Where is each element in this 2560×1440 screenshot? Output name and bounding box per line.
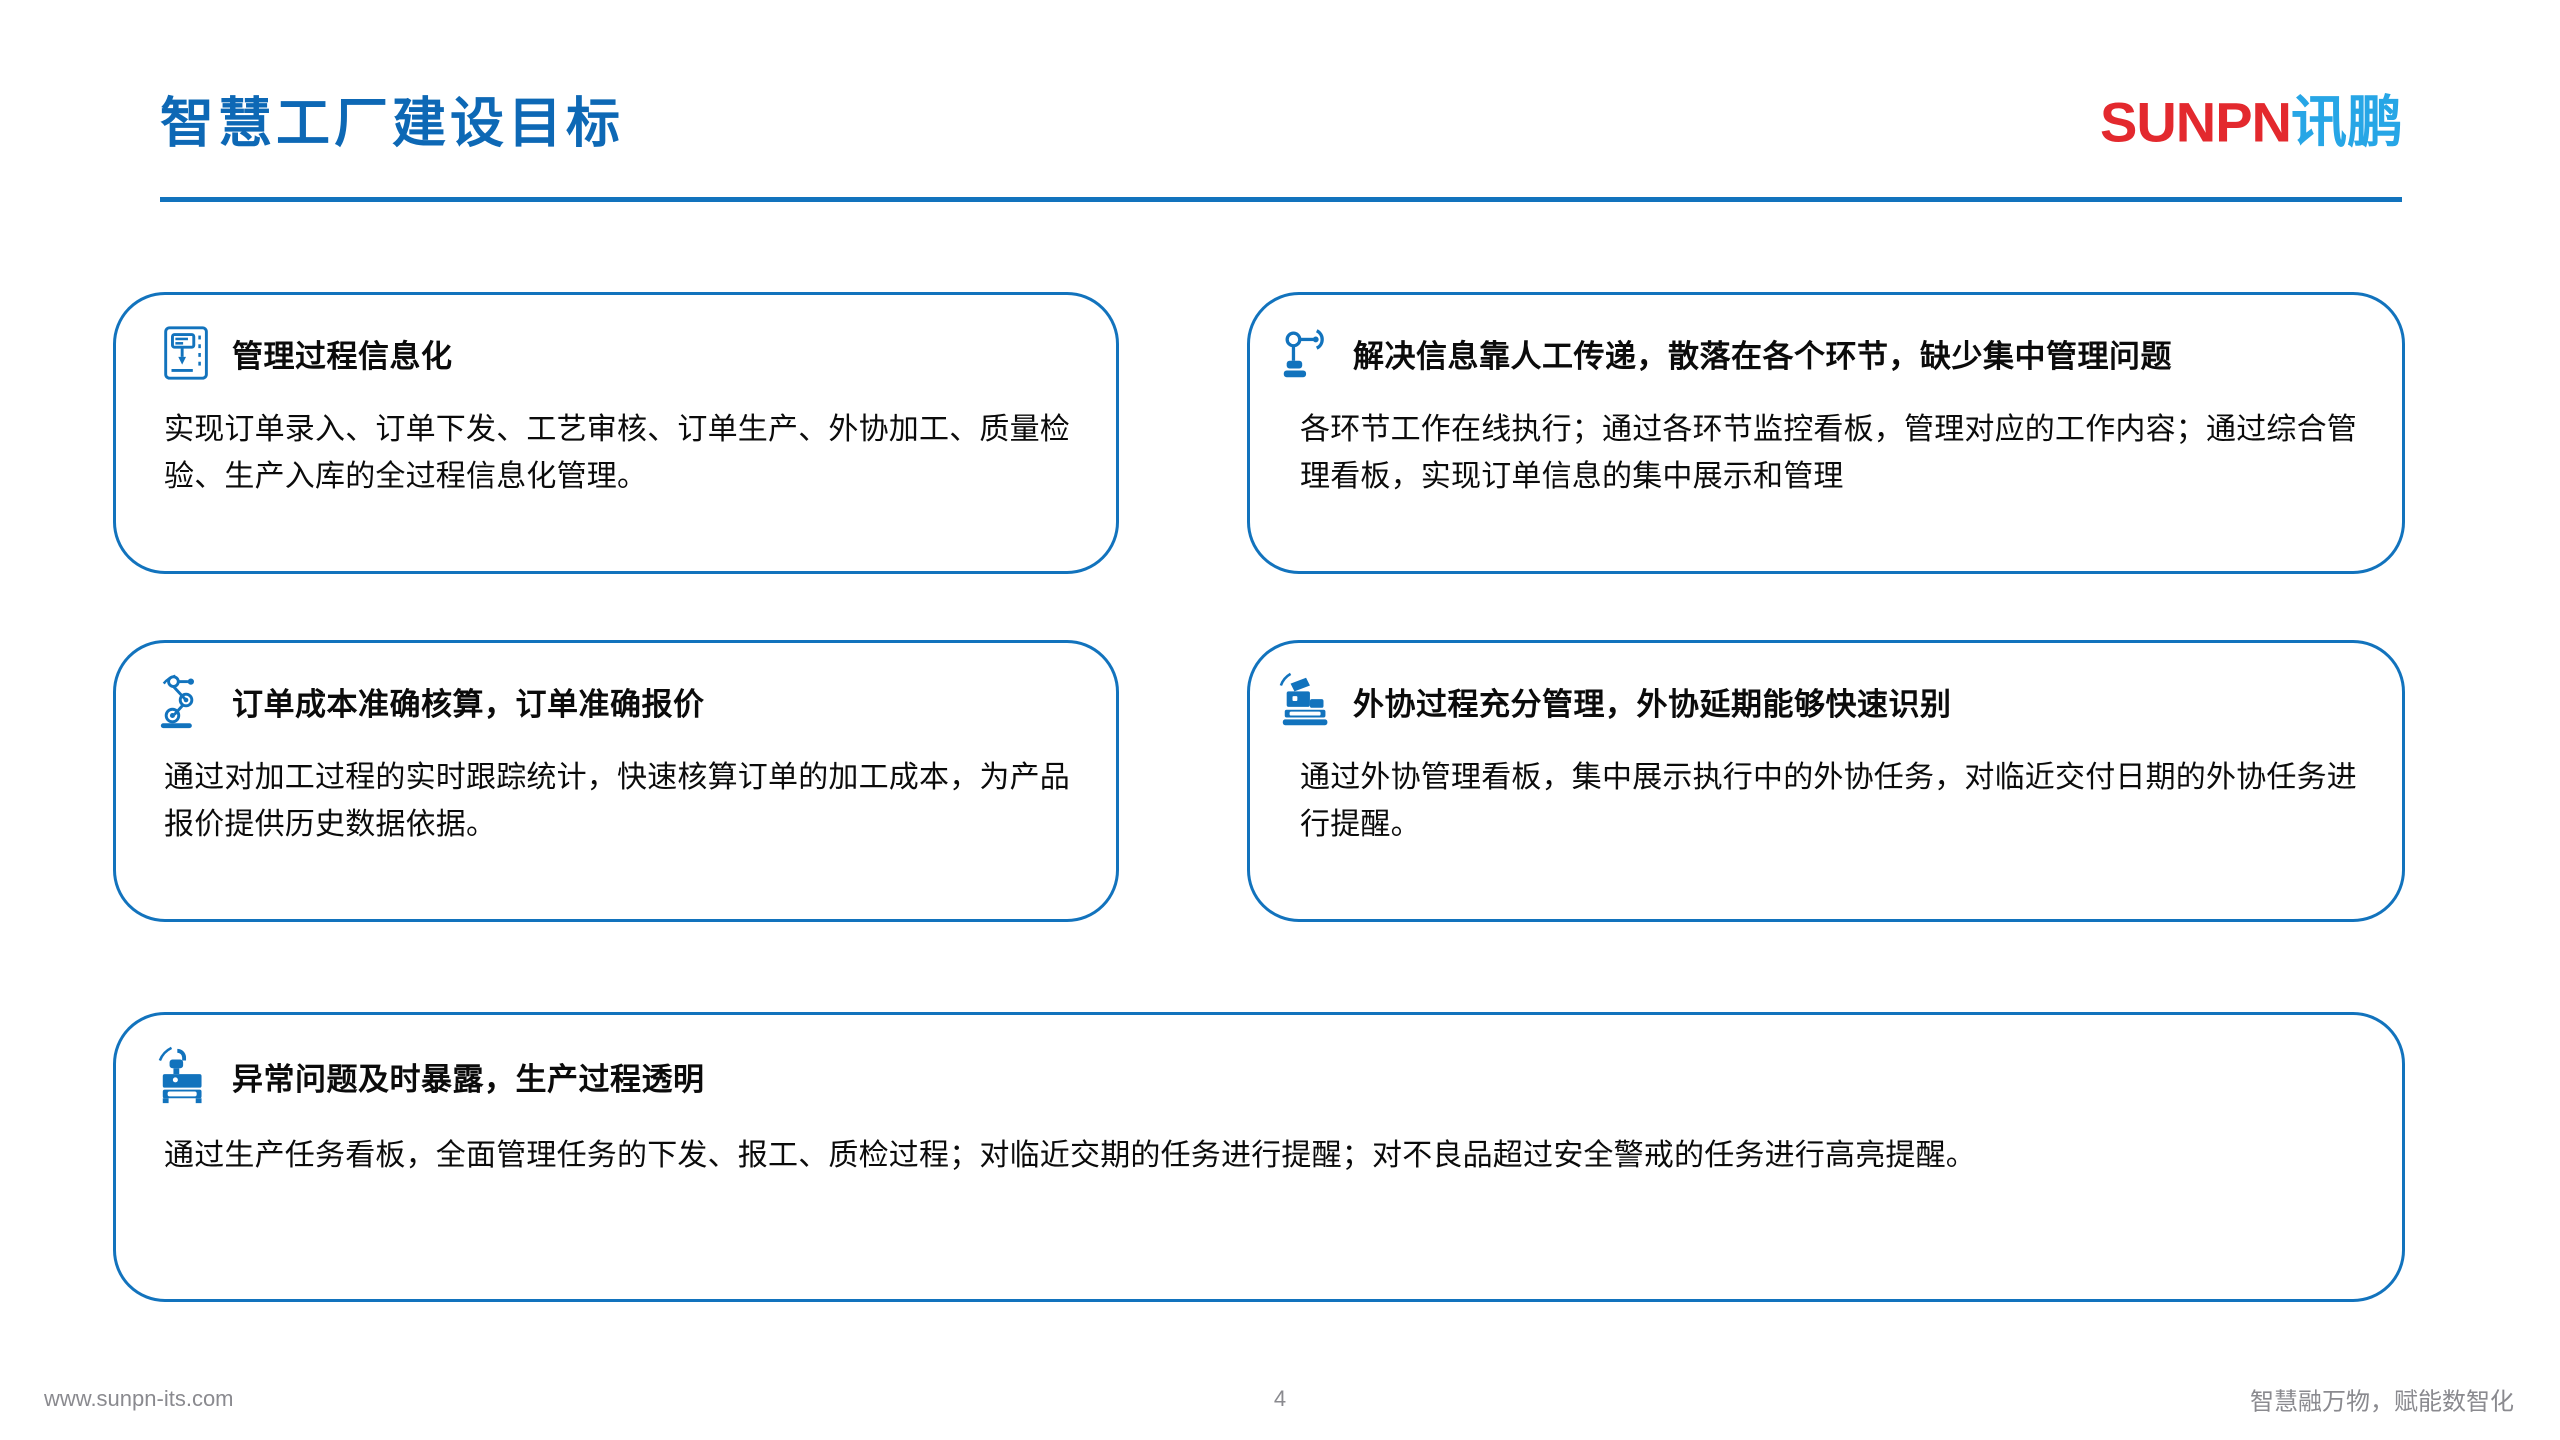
card-header: 外协过程充分管理，外协延期能够快速识别 xyxy=(1277,670,1952,732)
goal-card-management-informatization[interactable]: 管理过程信息化 实现订单录入、订单下发、工艺审核、订单生产、外协加工、质量检验、… xyxy=(113,292,1119,574)
card-body-text: 各环节工作在线执行；通过各环节监控看板，管理对应的工作内容；通过综合管理看板，实… xyxy=(1300,407,2380,500)
card-title: 订单成本准确核算，订单准确报价 xyxy=(232,679,705,724)
card-header: 订单成本准确核算，订单准确报价 xyxy=(156,670,705,732)
card-header: 管理过程信息化 xyxy=(156,322,453,384)
footer-slogan: 智慧融万物，赋能数智化 xyxy=(2250,1382,2514,1417)
card-title: 解决信息靠人工传递，散落在各个环节，缺少集中管理问题 xyxy=(1353,331,2172,376)
card-body-text: 通过对加工过程的实时跟踪统计，快速核算订单的加工成本，为产品报价提供历史数据依据… xyxy=(164,755,1094,848)
footer-website-url[interactable]: www.sunpn-its.com xyxy=(44,1386,234,1412)
card-header: 异常问题及时暴露，生产过程透明 xyxy=(156,1045,705,1107)
card-title: 异常问题及时暴露，生产过程透明 xyxy=(232,1054,705,1099)
logo-chinese-text: 讯鹏 xyxy=(2291,78,2403,159)
card-body-text: 通过外协管理看板，集中展示执行中的外协任务，对临近交付日期的外协任务进行提醒。 xyxy=(1300,755,2380,848)
card-body-text: 实现订单录入、订单下发、工艺审核、订单生产、外协加工、质量检验、生产入库的全过程… xyxy=(164,407,1084,500)
logo-latin-text: SUNPN xyxy=(2100,90,2291,155)
cnc-machine-icon xyxy=(156,322,218,384)
industrial-machine-icon xyxy=(1277,670,1339,732)
footer-page-number: 4 xyxy=(1274,1386,1286,1412)
card-title: 外协过程充分管理，外协延期能够快速识别 xyxy=(1353,679,1952,724)
card-body-text: 通过生产任务看板，全面管理任务的下发、报工、质检过程；对临近交期的任务进行提醒；… xyxy=(164,1133,2364,1180)
goal-card-cost-accounting[interactable]: 订单成本准确核算，订单准确报价 通过对加工过程的实时跟踪统计，快速核算订单的加工… xyxy=(113,640,1119,922)
goal-card-exception-transparency[interactable]: 异常问题及时暴露，生产过程透明 通过生产任务看板，全面管理任务的下发、报工、质检… xyxy=(113,1012,2405,1302)
brand-logo: SUNPN 讯鹏 xyxy=(2100,78,2403,159)
press-machine-icon xyxy=(156,1045,218,1107)
robot-arm-icon xyxy=(1277,322,1339,384)
card-title: 管理过程信息化 xyxy=(232,331,453,376)
goal-card-outsourcing-management[interactable]: 外协过程充分管理，外协延期能够快速识别 通过外协管理看板，集中展示执行中的外协任… xyxy=(1247,640,2405,922)
goal-card-centralized-management[interactable]: 解决信息靠人工传递，散落在各个环节，缺少集中管理问题 各环节工作在线执行；通过各… xyxy=(1247,292,2405,574)
card-header: 解决信息靠人工传递，散落在各个环节，缺少集中管理问题 xyxy=(1277,322,2172,384)
articulated-robot-icon xyxy=(156,670,218,732)
page-title: 智慧工厂建设目标 xyxy=(160,79,624,158)
slide-header: 智慧工厂建设目标 SUNPN 讯鹏 xyxy=(0,0,2560,208)
header-divider xyxy=(160,197,2402,202)
